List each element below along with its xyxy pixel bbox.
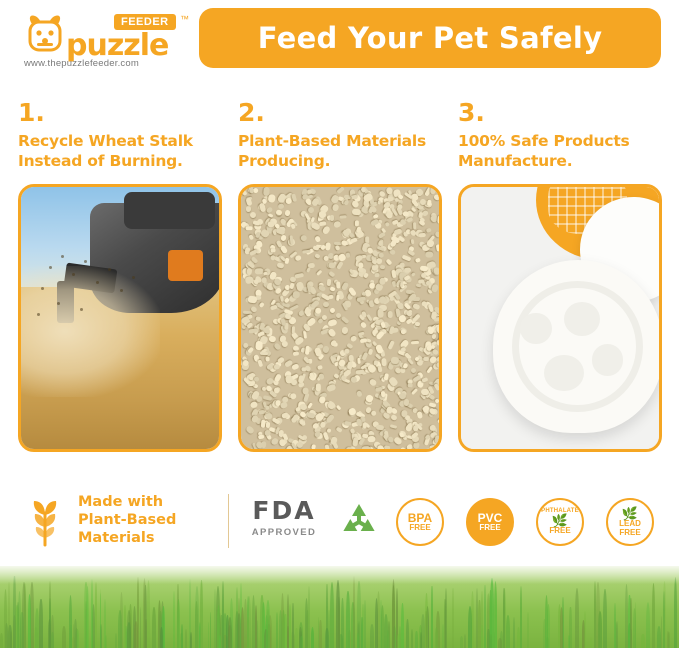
pellet — [276, 209, 283, 215]
pellet — [284, 209, 290, 216]
pellet — [270, 248, 275, 252]
pellet — [336, 295, 340, 301]
recycle-icon — [336, 500, 382, 544]
grass-blade — [222, 581, 224, 648]
step-1: 1. Recycle Wheat Stalk Instead of Burnin… — [18, 100, 222, 452]
grass-blade — [584, 611, 587, 648]
grass-blade — [380, 600, 382, 648]
brand-logo[interactable]: FEEDER ™ puzzle www.thepuzzlefeeder.com — [18, 8, 198, 70]
pellet — [415, 321, 420, 325]
grass-blade — [319, 620, 321, 648]
pellet — [246, 206, 251, 212]
pellet — [352, 209, 361, 216]
grass-blade — [20, 612, 23, 648]
pellet — [403, 399, 409, 406]
grass-blade — [311, 627, 314, 648]
plant-based-label: Made with Plant-Based Materials — [78, 494, 176, 547]
plant-based-line-1: Made with — [78, 494, 176, 512]
wheat-icon — [22, 495, 68, 547]
grass-blade — [181, 624, 184, 648]
step-3-number: 3. — [458, 100, 662, 125]
grass-blade — [411, 629, 414, 648]
dust-cloud — [18, 266, 160, 397]
lead-free-seal: 🌿 LEAD FREE — [606, 498, 654, 546]
step-3: 3. 100% Safe Products Manufacture. — [458, 100, 662, 452]
pellet — [255, 268, 264, 274]
pellet — [263, 186, 270, 195]
grass-blade — [652, 583, 655, 648]
maze-blob — [544, 355, 584, 392]
grass-blade — [147, 580, 151, 648]
grass-blade — [633, 608, 636, 648]
pellet — [391, 357, 400, 364]
pellet — [413, 222, 417, 229]
step-1-number: 1. — [18, 100, 222, 125]
pellet — [341, 327, 348, 334]
step-2-image — [238, 184, 442, 452]
grass-blade — [641, 634, 644, 648]
pellet — [286, 197, 292, 203]
grass-blade — [498, 638, 502, 648]
grass-blade — [195, 601, 198, 648]
certification-badges: Made with Plant-Based Materials FDA APPR… — [0, 488, 679, 562]
grass-blade — [598, 611, 602, 648]
grass-blade — [279, 610, 282, 648]
pellet — [336, 281, 340, 288]
grass-blade — [255, 605, 257, 648]
grass-blade — [185, 629, 187, 648]
grass-blade — [603, 589, 607, 648]
grass-blade — [471, 591, 474, 648]
grass-blade — [13, 615, 16, 648]
grass-blade — [305, 598, 308, 648]
pellet — [377, 309, 383, 318]
pellet — [247, 267, 252, 275]
maze-ring — [512, 281, 643, 412]
lead-seal-bottom: FREE — [619, 529, 640, 537]
phthalate-free-seal: PHTHALATE 🌿 FREE — [536, 498, 584, 546]
title-banner: Feed Your Pet Safely — [199, 8, 661, 68]
pellet — [326, 279, 331, 286]
grass-blade — [431, 586, 433, 648]
pellet — [384, 445, 391, 450]
grass-blade — [105, 635, 107, 648]
grass-blade — [415, 631, 417, 648]
pellet — [380, 265, 385, 270]
maze-blob — [564, 302, 600, 336]
pellet — [407, 383, 412, 387]
grass-blade — [287, 594, 289, 648]
bpa-seal-bottom: FREE — [409, 524, 430, 532]
pvc-seal-bottom: FREE — [479, 524, 500, 532]
pellet — [324, 444, 329, 450]
grass-blade — [95, 582, 98, 648]
grass-blade — [124, 605, 126, 648]
grass-blade — [140, 607, 142, 648]
grass-blade — [51, 615, 54, 648]
pellet — [352, 195, 358, 200]
grass-blade — [464, 634, 466, 648]
pellet — [402, 211, 408, 217]
logo-trademark: ™ — [180, 14, 189, 24]
pellet — [302, 388, 308, 395]
grass-blade — [266, 600, 270, 648]
badge-divider — [228, 494, 229, 548]
pellet — [400, 282, 404, 287]
grass-blade — [663, 591, 665, 648]
grass-blade — [364, 600, 366, 648]
pellet — [437, 215, 442, 224]
pellet — [429, 445, 435, 450]
grass-blade — [346, 591, 349, 648]
pellet — [358, 261, 364, 268]
harvester-orange-part — [168, 250, 204, 281]
grass-blade — [425, 593, 428, 648]
pellet — [262, 277, 267, 283]
grass-blade — [86, 586, 89, 648]
grass-blade — [646, 602, 650, 648]
grass-blade — [560, 607, 563, 648]
grass-blade — [39, 599, 42, 648]
pellet — [330, 215, 335, 221]
grass-blade — [357, 633, 359, 648]
maze-blob — [520, 313, 552, 344]
grass-blade — [295, 628, 297, 648]
harvester-cab — [124, 192, 215, 229]
pellet — [266, 422, 270, 428]
grass-blade — [503, 588, 506, 648]
grass-blade — [630, 598, 632, 648]
grass-blade — [28, 594, 31, 648]
pellet — [417, 280, 423, 284]
grass-blade — [115, 633, 117, 648]
grass-blade — [118, 610, 122, 648]
pellet — [264, 413, 272, 420]
fda-badge: FDA APPROVED — [246, 496, 322, 538]
grass-blade — [190, 632, 192, 648]
grass-blade — [289, 604, 291, 648]
bpa-free-seal: BPA FREE — [396, 498, 444, 546]
grass-blade — [520, 586, 522, 648]
pellet — [414, 425, 419, 431]
plant-based-badge: Made with Plant-Based Materials — [22, 490, 218, 552]
grass-blade — [219, 635, 222, 648]
fda-title: FDA — [246, 496, 322, 525]
grass-blade — [575, 588, 579, 648]
grass-blade — [62, 626, 66, 648]
pellet — [248, 295, 258, 303]
pellet — [399, 393, 406, 399]
grass-blade — [127, 610, 131, 648]
pellet — [262, 387, 266, 391]
pellet — [304, 345, 309, 354]
pellet — [249, 212, 255, 218]
grass-blade — [384, 614, 388, 648]
pellet — [425, 252, 433, 258]
step-1-image — [18, 184, 222, 452]
grass-blade — [282, 610, 285, 648]
grass-blade — [152, 607, 155, 648]
pellet — [367, 435, 375, 441]
step-3-image — [458, 184, 662, 452]
plant-based-line-3: Materials — [78, 530, 176, 548]
pellet — [246, 226, 253, 230]
grass-blade — [74, 619, 77, 648]
grass-blade — [353, 576, 356, 648]
grass-blade — [325, 628, 329, 648]
grass-blade — [460, 636, 464, 648]
grass-blade — [260, 595, 263, 648]
step-2-text: Plant-Based Materials Producing. — [238, 132, 442, 174]
grass-top-fade — [0, 566, 679, 584]
pellet — [355, 221, 359, 227]
grass-blade — [590, 637, 592, 648]
grass-blade — [494, 581, 497, 648]
grass-blade — [545, 595, 548, 648]
pellet — [278, 430, 283, 437]
pellet — [439, 333, 442, 341]
grass-blade — [397, 634, 401, 648]
step-2-number: 2. — [238, 100, 442, 125]
pellet — [274, 387, 279, 393]
pellet — [401, 410, 407, 417]
grass-blade — [341, 598, 344, 648]
grass-blade — [406, 619, 409, 648]
phthalate-seal-bottom: FREE — [549, 527, 570, 535]
pvc-free-seal: PVC FREE — [466, 498, 514, 546]
grass-blade — [452, 588, 454, 648]
pellet — [377, 200, 381, 205]
grass-blade — [513, 617, 515, 648]
header: FEEDER ™ puzzle www.thepuzzlefeeder.com … — [0, 0, 679, 78]
pellet — [340, 214, 347, 218]
pellet — [419, 232, 426, 237]
pellet — [357, 358, 361, 364]
plant-based-line-2: Plant-Based — [78, 512, 176, 530]
grass-blade — [484, 585, 486, 648]
grass-blade — [668, 632, 670, 648]
grass-blade — [293, 634, 295, 648]
grass-blade — [210, 612, 212, 648]
pellet — [440, 430, 442, 439]
pellet — [328, 262, 335, 268]
grass-blade — [370, 624, 374, 648]
grass-blade — [230, 598, 234, 648]
dog-head-icon — [24, 12, 66, 56]
grass-blade — [15, 605, 19, 648]
grass-blade — [0, 633, 3, 648]
pellet — [436, 244, 441, 251]
pellet — [387, 311, 392, 318]
fda-subtitle: APPROVED — [246, 527, 322, 538]
pellet — [262, 271, 267, 275]
grass-blade — [478, 600, 480, 648]
pellet — [301, 367, 306, 371]
maze-blob — [592, 344, 624, 375]
grass-footer — [0, 566, 679, 648]
pellet — [256, 340, 263, 349]
grass-blade — [200, 580, 203, 648]
pellet — [329, 307, 335, 313]
grass-blade — [4, 589, 7, 648]
grass-blade — [35, 608, 39, 648]
grass-blade — [177, 599, 180, 648]
grass-blade — [276, 612, 278, 648]
pellet — [375, 272, 380, 277]
pellet — [427, 327, 433, 334]
grass-blade — [8, 582, 10, 648]
pellet — [260, 352, 268, 356]
grass-blade — [421, 614, 425, 648]
grass-blade — [401, 603, 404, 648]
grass-blade — [362, 604, 364, 648]
grass-blade — [506, 615, 510, 648]
grass-blade — [247, 617, 249, 648]
grass-blade — [527, 612, 530, 648]
grass-blade — [445, 588, 447, 648]
pellet — [362, 446, 371, 452]
grass-blade — [392, 579, 395, 648]
grass-blade — [330, 582, 334, 648]
steps-section: 1. Recycle Wheat Stalk Instead of Burnin… — [0, 100, 679, 480]
pellet — [439, 333, 442, 341]
grass-blade — [568, 635, 570, 648]
page-title: Feed Your Pet Safely — [258, 21, 603, 55]
grass-blade — [490, 634, 493, 648]
grass-blade — [318, 617, 320, 648]
pellet — [420, 199, 426, 205]
grass-blade — [173, 591, 175, 648]
grass-blade — [614, 603, 616, 648]
grass-blade — [674, 577, 677, 648]
grass-blade — [300, 636, 303, 648]
pellet — [293, 291, 301, 298]
step-1-text: Recycle Wheat Stalk Instead of Burning. — [18, 132, 222, 174]
grass-blade — [91, 579, 93, 648]
grass-blade — [468, 606, 472, 648]
step-2: 2. Plant-Based Materials Producing. — [238, 100, 442, 452]
logo-website-url: www.thepuzzlefeeder.com — [24, 58, 139, 69]
step-3-text: 100% Safe Products Manufacture. — [458, 132, 662, 174]
pellet — [435, 436, 440, 444]
